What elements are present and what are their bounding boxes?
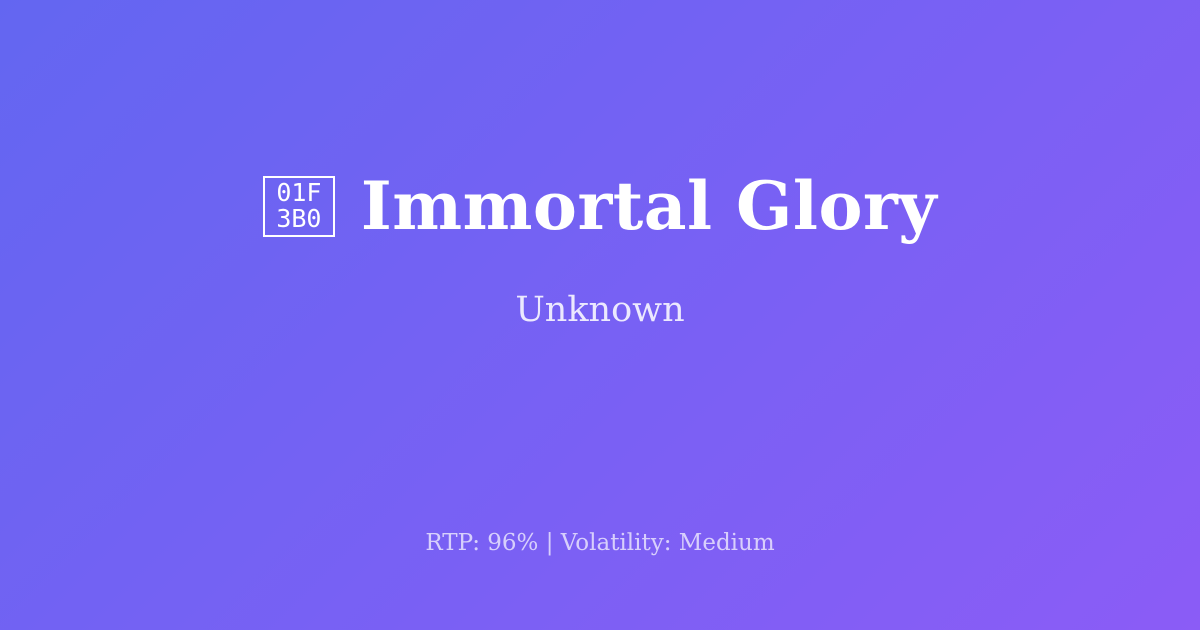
slot-machine-icon: 01F 3B0 bbox=[263, 176, 335, 237]
game-title: Immortal Glory bbox=[361, 167, 937, 245]
slot-machine-icon-codepoint-low: 3B0 bbox=[276, 206, 321, 232]
title-row: 01F 3B0 Immortal Glory bbox=[263, 167, 937, 245]
slot-machine-icon-codepoint-high: 01F bbox=[276, 180, 321, 206]
game-provider: Unknown bbox=[515, 289, 684, 331]
game-preview-card: 01F 3B0 Immortal Glory Unknown RTP: 96% … bbox=[0, 0, 1200, 630]
hero-block: 01F 3B0 Immortal Glory Unknown bbox=[0, 0, 1200, 498]
game-meta-stats: RTP: 96% | Volatility: Medium bbox=[0, 529, 1200, 557]
